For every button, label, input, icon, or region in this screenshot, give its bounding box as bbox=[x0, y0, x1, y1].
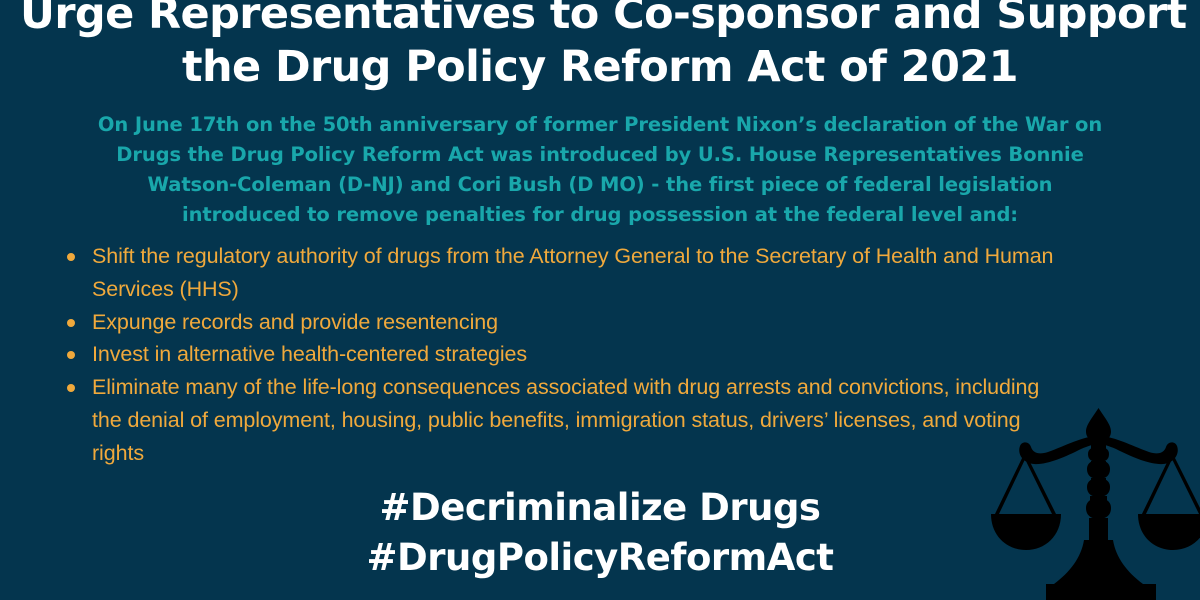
subtitle-line-4: introduced to remove penalties for drug … bbox=[60, 200, 1140, 230]
list-item: Invest in alternative health-centered st… bbox=[58, 338, 1068, 371]
poster-canvas: Urge Representatives to Co-sponsor and S… bbox=[0, 0, 1200, 600]
subtitle-paragraph: On June 17th on the 50th anniversary of … bbox=[60, 110, 1140, 230]
page-title: Urge Representatives to Co-sponsor and S… bbox=[0, 0, 1200, 94]
title-line-2: the Drug Policy Reform Act of 2021 bbox=[20, 41, 1180, 94]
subtitle-line-3: Watson-Coleman (D-NJ) and Cori Bush (D M… bbox=[60, 170, 1140, 200]
subtitle-line-2: Drugs the Drug Policy Reform Act was int… bbox=[60, 140, 1140, 170]
title-line-1: Urge Representatives to Co-sponsor and S… bbox=[20, 0, 1180, 41]
list-item: Shift the regulatory authority of drugs … bbox=[58, 240, 1068, 306]
list-item: Eliminate many of the life-long conseque… bbox=[58, 371, 1068, 469]
list-item: Expunge records and provide resentencing bbox=[58, 306, 1068, 339]
hashtag-block: #Decriminalize Drugs #DrugPolicyReformAc… bbox=[0, 483, 1200, 583]
subtitle-line-1: On June 17th on the 50th anniversary of … bbox=[60, 110, 1140, 140]
provisions-list: Shift the regulatory authority of drugs … bbox=[58, 240, 1068, 470]
hashtag-drug-policy-reform-act: #DrugPolicyReformAct bbox=[0, 533, 1200, 583]
hashtag-decriminalize-drugs: #Decriminalize Drugs bbox=[0, 483, 1200, 533]
